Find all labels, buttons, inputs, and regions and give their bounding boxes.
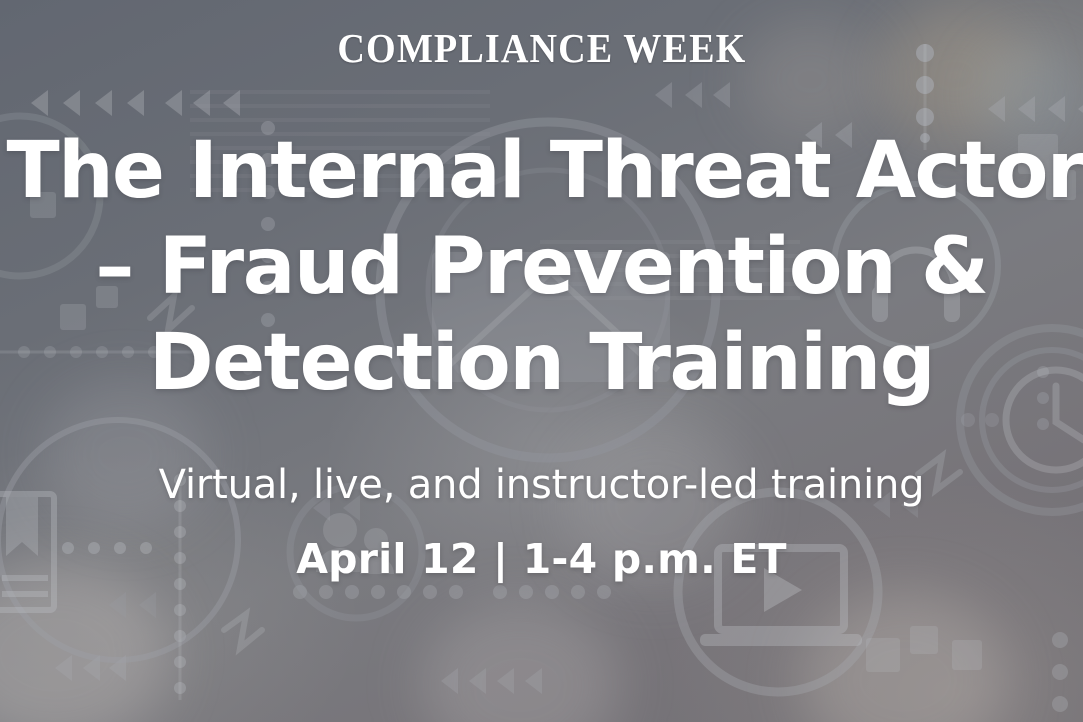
title-line-3: Detection Training xyxy=(7,315,1077,411)
page-title: The Internal Threat Actor – Fraud Preven… xyxy=(7,123,1077,411)
title-line-2: – Fraud Prevention & xyxy=(7,219,1077,315)
event-datetime-text: April 12 | 1-4 p.m. ET xyxy=(296,537,786,582)
event-format-text: Virtual, live, and instructor-led traini… xyxy=(159,463,925,507)
title-line-1: The Internal Threat Actor xyxy=(7,123,1077,219)
brand-logo: COMPLIANCE WEEK xyxy=(337,28,746,69)
promo-banner: COMPLIANCE WEEK The Internal Threat Acto… xyxy=(0,0,1083,722)
banner-content: COMPLIANCE WEEK The Internal Threat Acto… xyxy=(0,0,1083,722)
